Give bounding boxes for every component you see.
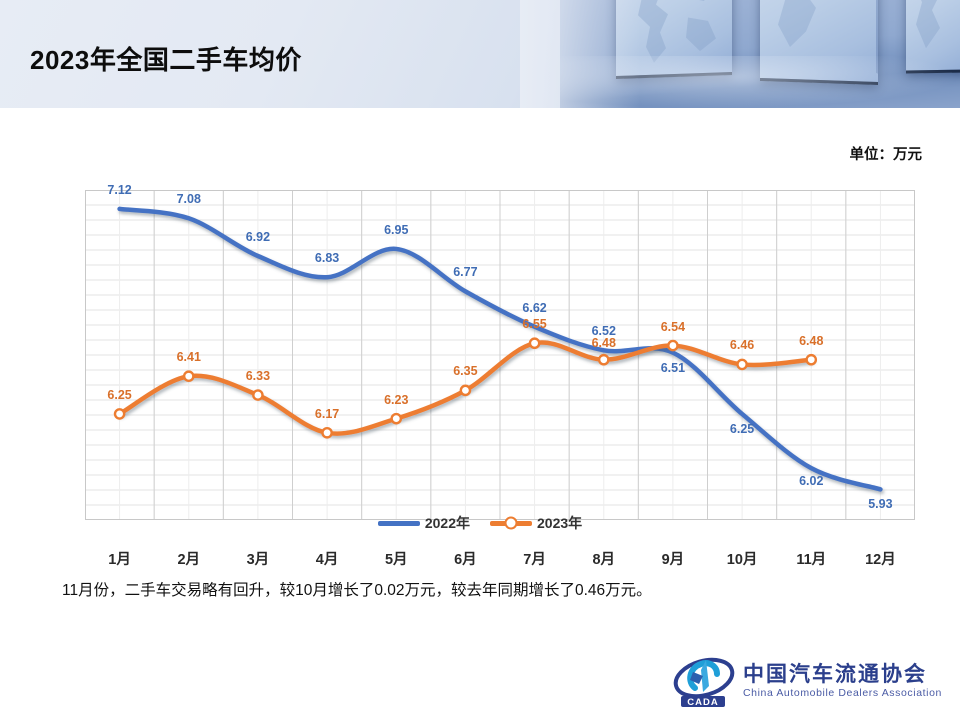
data-label: 6.55 <box>522 317 546 331</box>
data-label: 6.77 <box>453 265 477 279</box>
organization-logo: CADA 中国汽车流通协会 China Automobile Dealers A… <box>673 650 942 712</box>
page-title: 2023年全国二手车均价 <box>30 40 302 77</box>
data-label: 7.08 <box>177 192 201 206</box>
legend-swatch-icon <box>378 521 420 526</box>
cada-emblem-icon: CADA <box>673 652 735 710</box>
legend-item[interactable]: 2023年 <box>490 513 582 533</box>
data-label: 6.48 <box>799 334 823 348</box>
data-label: 6.25 <box>730 422 754 436</box>
logo-name-cn: 中国汽车流通协会 <box>743 663 942 687</box>
chart-x-axis: 1月2月3月4月5月6月7月8月9月10月11月12月 <box>85 548 915 574</box>
data-label: 6.23 <box>384 393 408 407</box>
data-label: 6.25 <box>107 388 131 402</box>
header-gradient-fade <box>520 0 640 108</box>
x-axis-tick-label: 11月 <box>796 548 826 569</box>
x-axis-tick-label: 12月 <box>865 548 896 569</box>
x-axis-tick-label: 10月 <box>727 548 758 569</box>
legend-swatch-icon <box>490 521 532 526</box>
chart-plot-area: 7.127.086.926.836.956.776.626.526.516.25… <box>85 190 915 520</box>
x-axis-tick-label: 1月 <box>108 548 131 569</box>
data-label: 6.95 <box>384 223 408 237</box>
data-label: 6.51 <box>661 361 685 375</box>
data-label: 6.02 <box>799 474 823 488</box>
x-axis-tick-label: 7月 <box>523 548 546 569</box>
chart-series <box>85 190 915 520</box>
legend-label: 2022年 <box>425 513 470 533</box>
x-axis-tick-label: 9月 <box>662 548 685 569</box>
data-label: 6.92 <box>246 230 270 244</box>
data-label: 6.46 <box>730 338 754 352</box>
legend-marker-icon <box>505 517 518 530</box>
x-axis-tick-label: 2月 <box>177 548 200 569</box>
data-label: 6.35 <box>453 364 477 378</box>
svg-text:CADA: CADA <box>687 697 718 708</box>
legend-label: 2023年 <box>537 513 582 533</box>
x-axis-tick-label: 4月 <box>316 548 339 569</box>
data-label: 6.17 <box>315 407 339 421</box>
data-label: 6.54 <box>661 320 685 334</box>
chart-legend: 2022年2023年 <box>0 508 960 538</box>
chart-caption: 11月份，二手车交易略有回升，较10月增长了0.02万元，较去年同期增长了0.4… <box>62 578 652 600</box>
x-axis-tick-label: 6月 <box>454 548 477 569</box>
legend-item[interactable]: 2022年 <box>378 513 470 533</box>
data-label: 6.33 <box>246 369 270 383</box>
data-label: 6.62 <box>522 301 546 315</box>
x-axis-tick-label: 8月 <box>592 548 615 569</box>
chart-container: 7.127.086.926.836.956.776.626.526.516.25… <box>0 150 960 560</box>
data-label: 7.12 <box>107 183 131 197</box>
page-header: 2023年全国二手车均价 <box>0 0 960 108</box>
logo-text-block: 中国汽车流通协会 China Automobile Dealers Associ… <box>743 663 942 700</box>
x-axis-tick-label: 3月 <box>247 548 270 569</box>
x-axis-tick-label: 5月 <box>385 548 408 569</box>
data-label: 6.48 <box>592 336 616 350</box>
logo-name-en: China Automobile Dealers Association <box>743 687 942 700</box>
data-label: 6.41 <box>177 350 201 364</box>
data-label: 6.83 <box>315 251 339 265</box>
